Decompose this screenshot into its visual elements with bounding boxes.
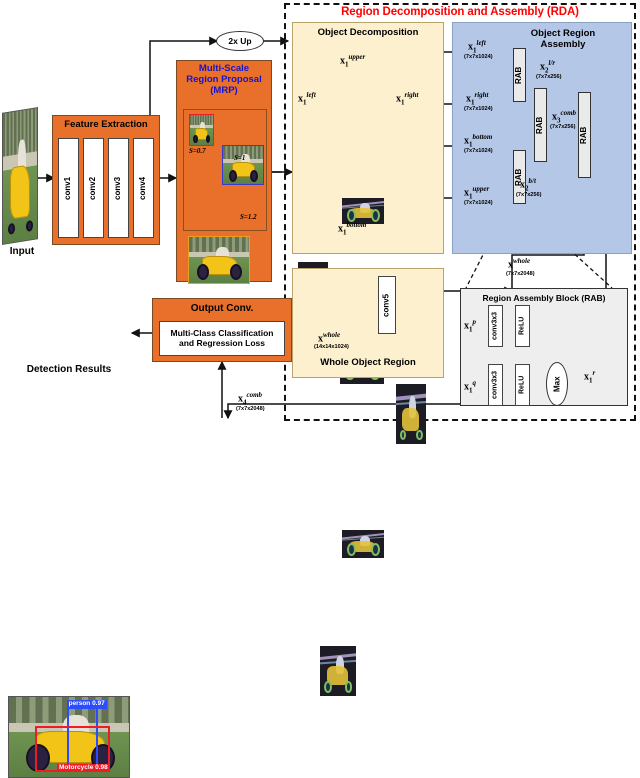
conv4-label: conv4 xyxy=(139,176,148,199)
rab-relu-top: ReLU xyxy=(515,305,530,347)
dims-x2-lr: (7x7x256) xyxy=(536,74,562,80)
conv3-label: conv3 xyxy=(114,176,123,199)
object-decomposition-title: Object Decomposition xyxy=(293,23,443,39)
label-x-whole: xwhole xyxy=(318,332,340,344)
feature-extraction-title: Feature Extraction xyxy=(53,116,159,131)
mrp-scale-label-0: S=0.7 xyxy=(189,147,206,155)
conv-layer-conv4: conv4 xyxy=(133,138,154,238)
mrp-crop-s07 xyxy=(189,114,214,146)
detection-tag-person: person 0.97 xyxy=(67,700,107,709)
dims-x-whole: (14x14x1024) xyxy=(314,344,349,350)
label-x3-comb: x3comb xyxy=(552,110,576,124)
whole-object-region-title: Whole Object Region xyxy=(292,358,444,369)
upsample-node: 2x Up xyxy=(216,31,264,51)
rab-detail-title: Region Assembly Block (RAB) xyxy=(461,289,627,304)
rab-final-label: RAB xyxy=(580,126,589,143)
detection-result-image: person 0.97 Motorcycle 0.98 xyxy=(8,696,130,778)
output-conv-body-line2: and Regression Loss xyxy=(179,339,265,349)
feature-extraction-box: Feature Extraction conv1 conv2 conv3 con… xyxy=(52,115,160,245)
rab-output-r: x1r xyxy=(584,370,595,384)
output-conv-title: Output Conv. xyxy=(153,299,291,314)
output-conv-body: Multi-Class Classification and Regressio… xyxy=(159,321,285,356)
rab-block-lr: RAB xyxy=(513,48,526,102)
rab-relu-top-label: ReLU xyxy=(519,317,527,335)
dims-x3-comb: (7x7x256) xyxy=(550,124,576,130)
mrp-scale-gallery: S=0.7 S=1 S=1.2 xyxy=(183,109,267,231)
mrp-crop-s12 xyxy=(188,236,250,284)
label-x1-upper: x1upper xyxy=(340,54,365,68)
assembly-input-bottom: x1bottom xyxy=(464,134,492,148)
decomp-crop-bottom xyxy=(342,530,384,558)
input-image xyxy=(2,107,38,245)
label-x4-comb: x4comb xyxy=(238,392,262,406)
rab-detail-panel: Region Assembly Block (RAB) xyxy=(460,288,628,406)
conv5-label: conv5 xyxy=(383,293,392,316)
dims-x4-comb: (7x7x2048) xyxy=(236,406,265,412)
conv-layer-conv3: conv3 xyxy=(108,138,129,238)
assembly-input-left: x1left xyxy=(468,40,486,54)
decomp-crop-right xyxy=(396,384,426,444)
input-label: Input xyxy=(0,246,44,257)
conv5-block: conv5 xyxy=(378,276,396,334)
rab-conv3x3-top: conv3x3 xyxy=(488,305,503,347)
conv-layer-conv2: conv2 xyxy=(83,138,104,238)
rab-input-p: x1p xyxy=(464,319,476,333)
ora-title-line1: Object Region xyxy=(498,28,628,39)
rab-comb-label: RAB xyxy=(536,116,545,133)
mrp-scale-label-2: S=1.2 xyxy=(240,213,257,221)
assembly-input-left-dims: (7x7x1024) xyxy=(464,54,493,60)
label-x2-bt: x2b/t xyxy=(520,178,536,192)
detection-tag-motorcycle: Motorcycle 0.98 xyxy=(57,764,110,773)
assembly-input-right: x1right xyxy=(466,92,489,106)
label-x1-right: x1right xyxy=(396,92,419,106)
mrp-title-line3: (MRP) xyxy=(177,86,271,97)
dims-x-whole-out: (7x7x2048) xyxy=(506,271,535,277)
mrp-crop-s1 xyxy=(222,145,264,185)
dims-x2-bt: (7x7x256) xyxy=(516,192,542,198)
conv-layer-conv1: conv1 xyxy=(58,138,79,238)
rab-block-final: RAB xyxy=(578,92,591,178)
rab-lr-label: RAB xyxy=(515,66,524,83)
assembly-input-bottom-dims: (7x7x1024) xyxy=(464,148,493,154)
label-x-whole-out: xwhole xyxy=(508,258,530,270)
rab-max-node: Max xyxy=(546,362,568,406)
label-x1-bottom: x1bottom xyxy=(338,222,366,236)
rab-input-q: x1q xyxy=(464,380,476,394)
assembly-input-upper: x1upper xyxy=(464,186,489,200)
mrp-scale-label-1: S=1 xyxy=(234,154,245,162)
detection-results-caption: Detection Results xyxy=(4,364,134,375)
rda-title: Region Decomposition and Assembly (RDA) xyxy=(286,6,634,18)
rab-conv3x3-bottom: conv3x3 xyxy=(488,364,503,406)
label-x2-lr: x2l/r xyxy=(540,60,555,74)
rab-conv-bottom-label: conv3x3 xyxy=(492,371,500,399)
rab-max-label: Max xyxy=(553,376,562,392)
mrp-box: Multi-Scale Region Proposal (MRP) S=0.7 … xyxy=(176,60,272,282)
whole-region-crop xyxy=(320,646,356,696)
assembly-input-upper-dims: (7x7x1024) xyxy=(464,200,493,206)
label-x1-left: x1left xyxy=(298,92,316,106)
mrp-title: Multi-Scale Region Proposal (MRP) xyxy=(177,61,271,97)
assembly-input-right-dims: (7x7x1024) xyxy=(464,106,493,112)
rab-block-comb: RAB xyxy=(534,88,547,162)
rab-relu-bottom-label: ReLU xyxy=(519,376,527,394)
conv1-label: conv1 xyxy=(64,176,73,199)
rab-relu-bottom: ReLU xyxy=(515,364,530,406)
rab-conv-top-label: conv3x3 xyxy=(492,312,500,340)
conv2-label: conv2 xyxy=(89,176,98,199)
output-conv-box: Output Conv. Multi-Class Classification … xyxy=(152,298,292,362)
